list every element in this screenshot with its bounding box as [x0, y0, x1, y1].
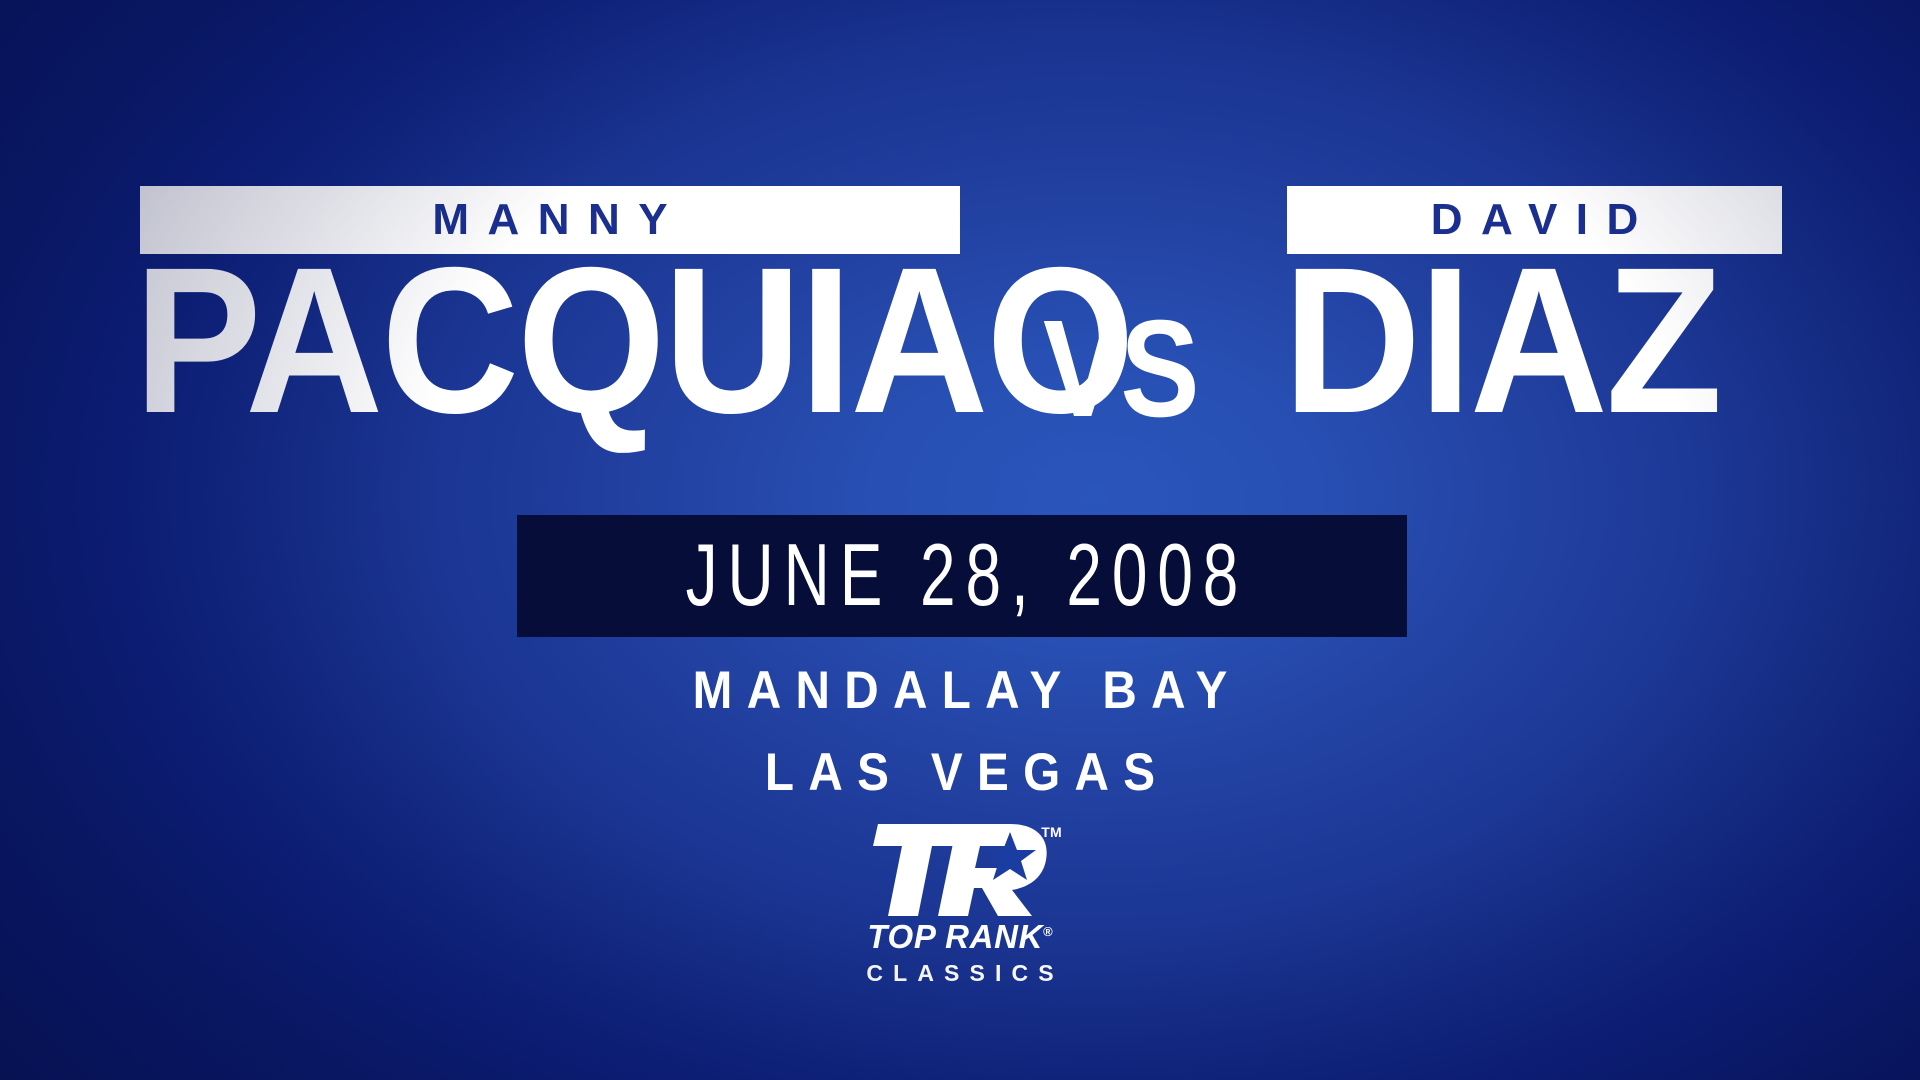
top-rank-classics-logo: TM TOP RANK® CLASSICS — [845, 822, 1075, 985]
event-date-banner: JUNE 28, 2008 — [517, 515, 1407, 637]
top-rank-monogram-icon: TM — [860, 822, 1060, 918]
trademark-icon: TM — [1041, 824, 1062, 840]
top-rank-wordmark-text: TOP RANK — [867, 918, 1043, 955]
fighter-left-block: MANNY PACQUIAO — [140, 186, 960, 424]
versus-label: VS — [1043, 300, 1198, 438]
top-rank-wordmark: TOP RANK® — [867, 920, 1052, 953]
fighter-left-last-name: PACQUIAO — [134, 258, 894, 424]
fight-poster: MANNY PACQUIAO VS DAVID DIAZ JUNE 28, 20… — [0, 0, 1920, 1080]
event-date-text: JUNE 28, 2008 — [676, 525, 1249, 627]
top-rank-sublabel: CLASSICS — [856, 962, 1063, 985]
fighter-right-last-name: DIAZ — [1283, 258, 1742, 424]
event-venue-city: LAS VEGAS — [96, 742, 1824, 803]
fighter-right-block: DAVID DIAZ — [1287, 186, 1782, 424]
registered-mark-icon: ® — [1043, 924, 1053, 939]
event-venue-name: MANDALAY BAY — [96, 660, 1824, 721]
